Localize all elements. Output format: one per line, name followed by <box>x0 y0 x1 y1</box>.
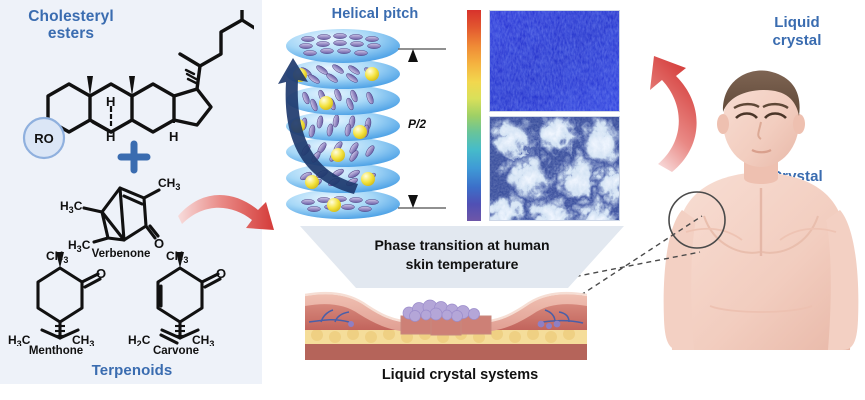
terpenoids-title: Terpenoids <box>52 362 212 379</box>
carvone-oxygen: O <box>216 266 226 281</box>
red-curved-arrow-icon <box>176 186 291 246</box>
ro-leaving-group-highlight: RO <box>14 108 74 168</box>
menthone-name: Menthone <box>13 345 99 357</box>
menthone-oxygen: O <box>96 266 106 281</box>
skin-cross-section <box>305 288 587 360</box>
carvone-name: Carvone <box>133 345 219 357</box>
menthone-structure: CH3 O H3C CH3 <box>8 248 118 346</box>
phase-transition-line2: skin temperature <box>328 255 596 274</box>
liquid-crystal-label: Liquid crystal <box>742 14 852 50</box>
crystal-micrograph <box>489 116 620 221</box>
phase-transition-line1: Phase transition at human <box>328 236 596 255</box>
liquid-crystal-label-line1: Liquid <box>742 14 852 32</box>
liquid-crystal-micrograph <box>489 10 620 112</box>
ro-label: RO <box>34 131 54 146</box>
carvone-ch3: CH3 <box>166 249 188 265</box>
stereo-label-h1: H <box>106 94 115 109</box>
verbenone-h3c-a: H3C <box>60 199 83 215</box>
plus-symbol <box>115 138 153 176</box>
bottom-caption: Liquid crystal systems <box>300 367 620 383</box>
menthone-ch3: CH3 <box>46 249 68 265</box>
stereo-label-h3: H <box>169 129 178 144</box>
carvone-structure: CH3 O H2C CH3 <box>128 248 238 346</box>
figure-canvas: Cholesteryl esters <box>0 0 865 400</box>
helical-pitch-title: Helical pitch <box>300 6 450 22</box>
phase-transition-text: Phase transition at human skin temperatu… <box>328 236 596 274</box>
verbenone-structure: CH3 H3C H3C O <box>58 176 188 252</box>
liquid-crystal-label-line2: crystal <box>742 32 852 50</box>
pitch-label: P/2 <box>408 117 426 131</box>
jet-colorbar <box>467 10 481 221</box>
stereo-label-h2: H <box>106 129 115 144</box>
